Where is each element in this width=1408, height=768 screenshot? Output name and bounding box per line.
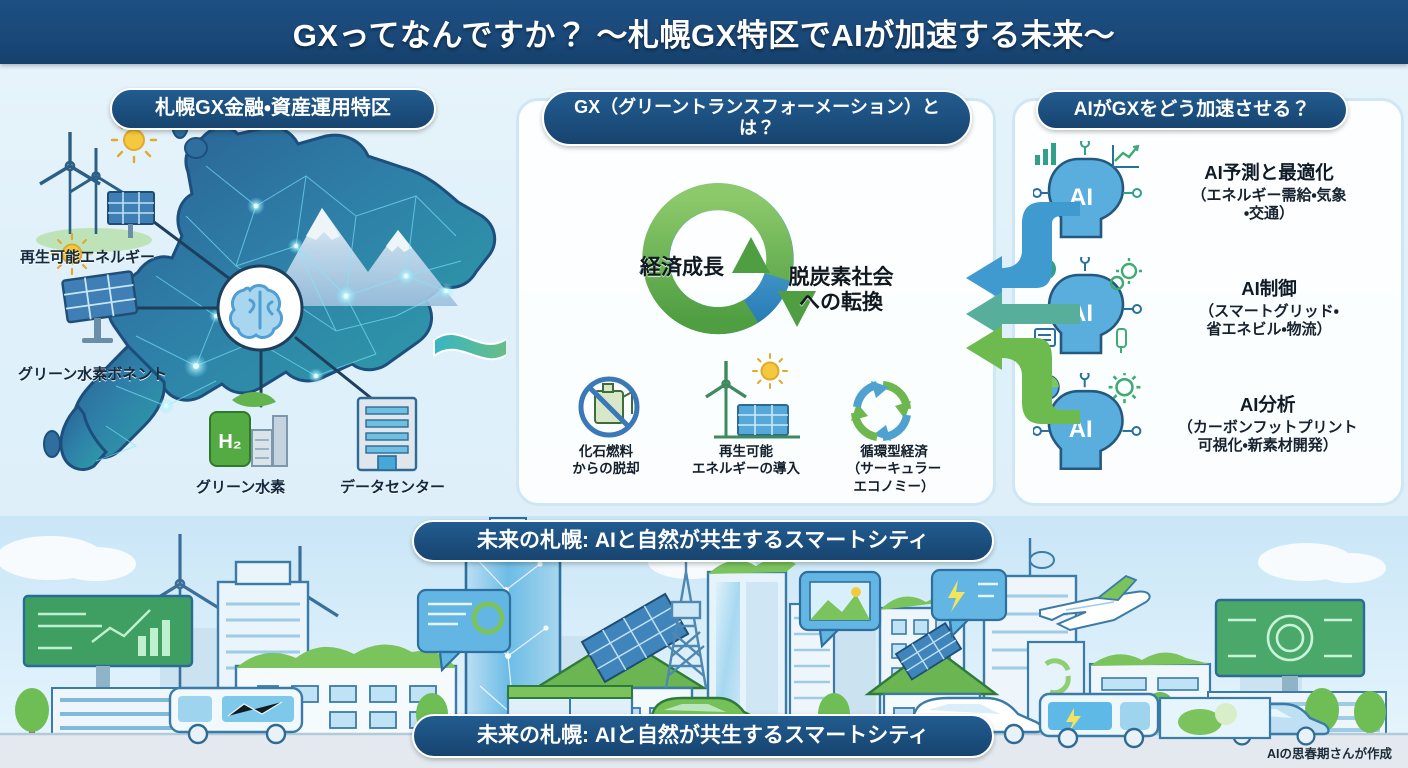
arrow-green bbox=[966, 326, 1080, 424]
ai-brain-badge bbox=[218, 266, 302, 350]
page-title: GXってなんですか？ ～札幌GX特区でAIが加速する未来～ bbox=[293, 10, 1116, 55]
pill-center-label: GX（グリーントランスフォーメーション）とは？ bbox=[558, 97, 956, 139]
eco-caption-circular: 循環型経済 （サーキュラー エコノミー） bbox=[829, 443, 959, 495]
eco-item-renewable: 再生可能 エネルギーの導入 bbox=[681, 439, 811, 478]
loop-decarbon-text: 脱炭素社会 への転換 bbox=[789, 266, 894, 315]
loop-growth-text: 経済成長 bbox=[640, 256, 724, 279]
eco-caption-fossil: 化石燃料 からの脱却 bbox=[541, 443, 671, 478]
left-panel-hokkaido: H₂ 再生可能エネルギー グリーン水素ボネ bbox=[6, 76, 506, 506]
circular-economy-icon bbox=[851, 381, 911, 441]
no-fossil-fuel-icon bbox=[581, 379, 637, 435]
brain-icon bbox=[231, 286, 282, 338]
center-panel-gx: 経済成長 脱炭素社会 への転換 化石燃料 からの脱却 再生可能 エネルギーの導入… bbox=[516, 98, 996, 506]
eco-item-circular: 循環型経済 （サーキュラー エコノミー） bbox=[829, 439, 959, 495]
eco-caption-renewable: 再生可能 エネルギーの導入 bbox=[681, 443, 811, 478]
green-hydrogen-icon: H₂ bbox=[210, 392, 287, 466]
arrow-teal bbox=[966, 292, 1080, 336]
ai-detail-analysis: （カーボンフットプリント 可視化・新素材開発） bbox=[1146, 419, 1389, 456]
label-data-center: データセンター bbox=[340, 476, 445, 497]
billboard-ai bbox=[1216, 600, 1364, 676]
ai-item-control: AI AI制御 bbox=[1033, 253, 1389, 365]
credit-text: AIの思春期さんが作成 bbox=[1267, 743, 1392, 762]
label-green-hydrogen-point: グリーン水素ボネント bbox=[18, 363, 167, 384]
pill-right-label: AIがGXをどう加速させる？ bbox=[1074, 99, 1310, 121]
hokkaido-map-graphic: H₂ bbox=[6, 76, 506, 506]
banner-top-city: 未来の札幌: AIと自然が共生するスマートシティ bbox=[412, 520, 994, 562]
eco-item-fossil: 化石燃料 からの脱却 bbox=[541, 439, 671, 478]
hydrogen-label: H₂ bbox=[218, 431, 241, 453]
renewable-energy-icon bbox=[36, 118, 156, 252]
ai-detail-prediction: （エネルギー需給・気象 ・交通） bbox=[1153, 187, 1385, 224]
ai-title-control: AI制御 bbox=[1153, 278, 1385, 300]
pill-left-label: 札幌GX金融・資産運用特区 bbox=[155, 97, 391, 121]
ai-title-analysis: AI分析 bbox=[1146, 394, 1389, 416]
label-green-hydrogen: グリーン水素 bbox=[196, 476, 285, 497]
infographic-canvas: GXってなんですか？ ～札幌GX特区でAIが加速する未来～ bbox=[0, 0, 1408, 768]
banner-top-label: 未来の札幌: AIと自然が共生するスマートシティ bbox=[477, 529, 929, 554]
loop-label-growth: 経済成長 bbox=[623, 255, 741, 281]
loop-label-decarbon: 脱炭素社会 への転換 bbox=[771, 239, 911, 316]
label-renewable: 再生可能エネルギー bbox=[20, 246, 155, 267]
pill-right-panel: AIがGXをどう加速させる？ bbox=[1036, 90, 1348, 130]
ai-detail-control: （スマートグリッド・ 省エネビル・物流） bbox=[1153, 303, 1385, 340]
arrow-blue bbox=[966, 202, 1080, 300]
ai-title-prediction: AI予測と最適化 bbox=[1153, 162, 1385, 184]
data-center-icon bbox=[358, 398, 416, 470]
banner-bottom-city: 未来の札幌: AIと自然が共生するスマートシティ bbox=[412, 714, 994, 758]
banner-bottom-label: 未来の札幌: AIと自然が共生するスマートシティ bbox=[477, 724, 929, 749]
map-to-gx-arrow bbox=[434, 324, 506, 368]
pill-left-panel: 札幌GX金融・資産運用特区 bbox=[110, 88, 436, 130]
renewable-energy-icon bbox=[706, 354, 800, 437]
title-bar: GXってなんですか？ ～札幌GX特区でAIが加速する未来～ bbox=[0, 0, 1408, 64]
ai-connector-arrows bbox=[960, 176, 1080, 446]
glass-greenhouse bbox=[1160, 698, 1270, 738]
ai-item-prediction: AI AI予測と最適化 （エネルギー需給・気象 ・交通） bbox=[1033, 137, 1389, 249]
pill-center-panel: GX（グリーントランスフォーメーション）とは？ bbox=[542, 90, 972, 146]
ai-item-analysis: AI AI分析 （カーボンフットプリント 可視化・新素材開発） bbox=[1033, 369, 1389, 481]
